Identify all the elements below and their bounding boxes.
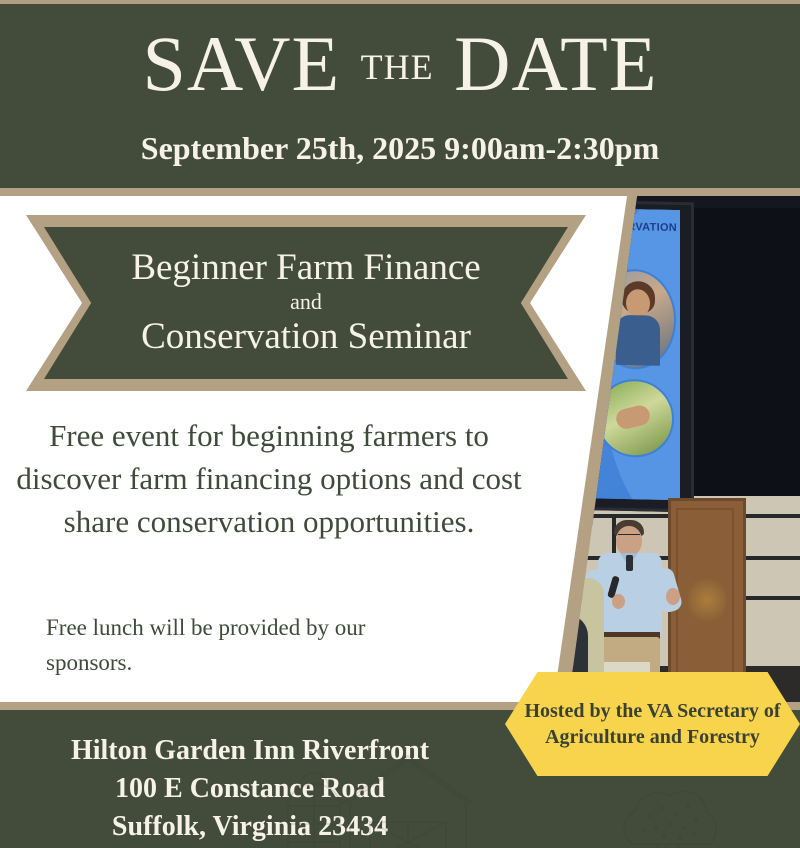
seminar-title-connector: and bbox=[290, 289, 322, 315]
lunch-note: Free lunch will be provided by our spons… bbox=[46, 610, 426, 680]
barn-silo-watermark bbox=[258, 744, 488, 848]
photo-door-seal bbox=[688, 574, 726, 626]
audience-member-hair bbox=[516, 568, 562, 592]
page-title: SAVE THE DATE bbox=[0, 20, 800, 111]
photo-rail-post bbox=[526, 514, 530, 644]
audience-member-head bbox=[518, 576, 560, 620]
event-description: Free event for beginning farmers to disc… bbox=[14, 414, 524, 543]
speaker-right-hand bbox=[666, 588, 680, 605]
title-save: SAVE bbox=[143, 20, 341, 107]
arrow-right-icon: ➤ bbox=[557, 451, 577, 471]
speaker-head bbox=[616, 526, 642, 556]
speaker-glasses bbox=[618, 534, 640, 540]
header-divider-rule bbox=[0, 188, 800, 196]
speaker-left-hand bbox=[612, 594, 625, 609]
seminar-title-line1: Beginner Farm Finance bbox=[131, 247, 480, 289]
event-datetime: September 25th, 2025 9:00am-2:30pm bbox=[0, 128, 800, 168]
speaker-tie bbox=[626, 555, 633, 571]
save-the-date-flyer: SAVE THE DATE September 25th, 2025 9:00a… bbox=[0, 0, 800, 848]
seminar-title-line2: Conservation Seminar bbox=[141, 315, 471, 359]
title-the: THE bbox=[361, 47, 434, 87]
projector-mount bbox=[570, 196, 578, 210]
title-date: DATE bbox=[454, 20, 657, 107]
host-badge: Hosted by the VA Secretary of Agricultur… bbox=[505, 672, 800, 776]
host-badge-text: Hosted by the VA Secretary of Agricultur… bbox=[505, 698, 800, 750]
photo-ceiling bbox=[430, 196, 800, 208]
ribbon-banner: Beginner Farm Finance and Conservation S… bbox=[44, 227, 568, 379]
top-border-rule bbox=[0, 0, 800, 4]
